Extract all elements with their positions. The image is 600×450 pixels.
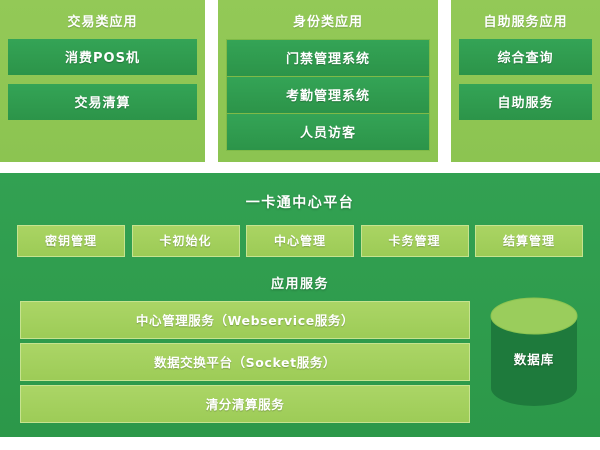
architecture-diagram: 交易类应用 消费POS机 交易清算 身份类应用 门禁管理系统 考勤管理系统 人员…	[0, 0, 600, 450]
platform-title: 一卡通中心平台	[0, 173, 600, 212]
module-card-initialization[interactable]: 卡初始化	[132, 225, 240, 257]
panel-items-transaction: 消费POS机 交易清算	[8, 39, 197, 120]
panel-items-selfservice: 综合查询 自助服务	[459, 39, 592, 120]
service-clearing-settlement[interactable]: 清分清算服务	[20, 385, 470, 423]
application-service-area: 中心管理服务（Webservice服务） 数据交换平台（Socket服务） 清分…	[0, 301, 600, 413]
panel-title-selfservice: 自助服务应用	[483, 11, 567, 30]
database-cylinder-icon[interactable]: 数据库	[487, 293, 581, 411]
app-box-visitor-management[interactable]: 人员访客	[227, 114, 429, 150]
row-separator	[0, 162, 600, 173]
panel-identity-applications: 身份类应用 门禁管理系统 考勤管理系统 人员访客	[218, 0, 438, 162]
module-settlement-management[interactable]: 结算管理	[475, 225, 583, 257]
service-center-management-webservice[interactable]: 中心管理服务（Webservice服务）	[20, 301, 470, 339]
app-box-attendance-system[interactable]: 考勤管理系统	[227, 77, 429, 114]
application-panels-row: 交易类应用 消费POS机 交易清算 身份类应用 门禁管理系统 考勤管理系统 人员…	[0, 0, 600, 162]
panel-title-identity: 身份类应用	[293, 11, 363, 30]
app-box-transaction-settlement[interactable]: 交易清算	[8, 84, 197, 120]
application-service-title: 应用服务	[0, 273, 600, 292]
app-box-self-service[interactable]: 自助服务	[459, 84, 592, 120]
panel-title-transaction: 交易类应用	[67, 11, 137, 30]
module-card-service-management[interactable]: 卡务管理	[361, 225, 469, 257]
app-box-pos-machine[interactable]: 消费POS机	[8, 39, 197, 75]
application-service-list: 中心管理服务（Webservice服务） 数据交换平台（Socket服务） 清分…	[20, 301, 470, 423]
panel-transaction-applications: 交易类应用 消费POS机 交易清算	[0, 0, 205, 162]
app-box-access-control-system[interactable]: 门禁管理系统	[227, 40, 429, 77]
module-key-management[interactable]: 密钥管理	[17, 225, 125, 257]
app-box-comprehensive-query[interactable]: 综合查询	[459, 39, 592, 75]
module-center-management[interactable]: 中心管理	[246, 225, 354, 257]
bottom-margin	[0, 437, 600, 450]
central-platform-panel: 一卡通中心平台 密钥管理 卡初始化 中心管理 卡务管理 结算管理 应用服务 中心…	[0, 173, 600, 437]
service-data-exchange-socket[interactable]: 数据交换平台（Socket服务）	[20, 343, 470, 381]
platform-module-row: 密钥管理 卡初始化 中心管理 卡务管理 结算管理	[17, 225, 583, 257]
panel-selfservice-applications: 自助服务应用 综合查询 自助服务	[451, 0, 600, 162]
panel-items-identity: 门禁管理系统 考勤管理系统 人员访客	[226, 39, 430, 151]
